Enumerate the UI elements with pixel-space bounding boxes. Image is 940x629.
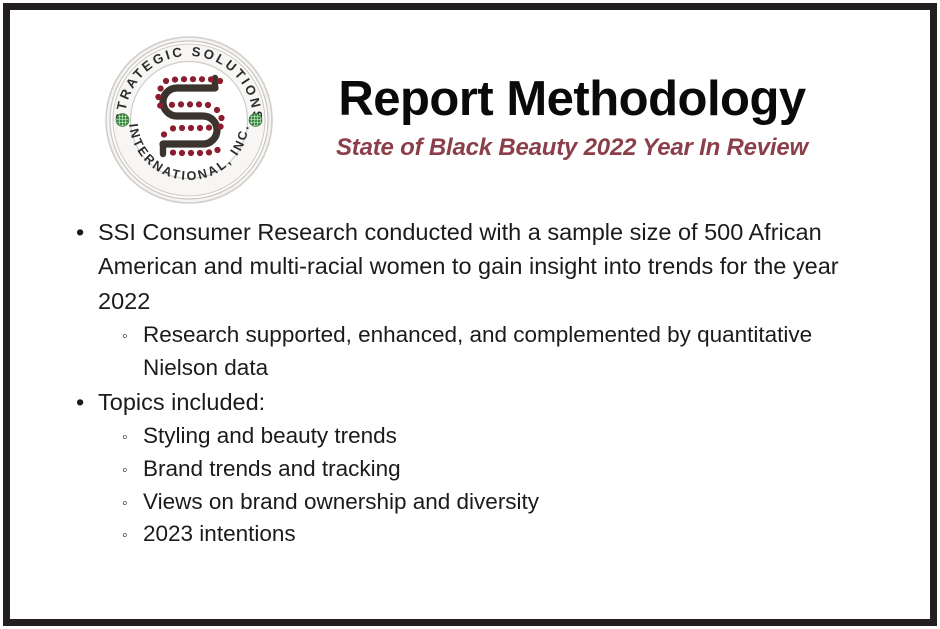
sub-bullet-text: Brand trends and tracking: [143, 456, 401, 481]
bullet-list-level-2: ◦ Styling and beauty trends ◦ Brand tren…: [10, 420, 930, 551]
sub-bullet-item: ◦ Brand trends and tracking: [10, 453, 930, 486]
sub-bullet-item: ◦ Views on brand ownership and diversity: [10, 486, 930, 519]
title-block: Report Methodology State of Black Beauty…: [282, 74, 862, 162]
slide-canvas: STRATEGIC SOLUTIONS INTERNATIONAL, INC.: [10, 10, 930, 619]
company-logo-icon: STRATEGIC SOLUTIONS INTERNATIONAL, INC.: [103, 34, 275, 206]
bullet-marker-circle: ◦: [122, 454, 128, 488]
presentation-slide: STRATEGIC SOLUTIONS INTERNATIONAL, INC.: [0, 0, 940, 629]
slide-header: STRATEGIC SOLUTIONS INTERNATIONAL, INC.: [10, 22, 930, 202]
sub-bullet-text: Views on brand ownership and diversity: [143, 489, 539, 514]
sub-bullet-text: 2023 intentions: [143, 521, 296, 546]
sub-bullet-item: ◦ Styling and beauty trends: [10, 420, 930, 453]
bullet-marker-circle: ◦: [122, 519, 128, 553]
bullet-item: • SSI Consumer Research conducted with a…: [10, 215, 930, 318]
sub-bullet-text: Research supported, enhanced, and comple…: [143, 322, 812, 380]
sub-bullet-item: ◦ Research supported, enhanced, and comp…: [10, 319, 930, 385]
page-subtitle: State of Black Beauty 2022 Year In Revie…: [282, 134, 862, 162]
bullet-item: • Topics included:: [10, 385, 930, 419]
bullet-marker-circle: ◦: [122, 320, 128, 354]
bullet-text: SSI Consumer Research conducted with a s…: [98, 219, 839, 314]
sub-bullet-text: Styling and beauty trends: [143, 423, 397, 448]
sub-bullet-item: ◦ 2023 intentions: [10, 518, 930, 551]
bullet-marker-disc: •: [76, 385, 84, 419]
bullet-list-level-1: • SSI Consumer Research conducted with a…: [10, 215, 930, 551]
bullet-list-level-2: ◦ Research supported, enhanced, and comp…: [10, 319, 930, 385]
bullet-text: Topics included:: [98, 389, 265, 415]
bullet-marker-circle: ◦: [122, 487, 128, 521]
bullet-marker-disc: •: [76, 215, 84, 249]
slide-body: • SSI Consumer Research conducted with a…: [10, 215, 930, 551]
page-title: Report Methodology: [282, 74, 862, 126]
bullet-marker-circle: ◦: [122, 421, 128, 455]
